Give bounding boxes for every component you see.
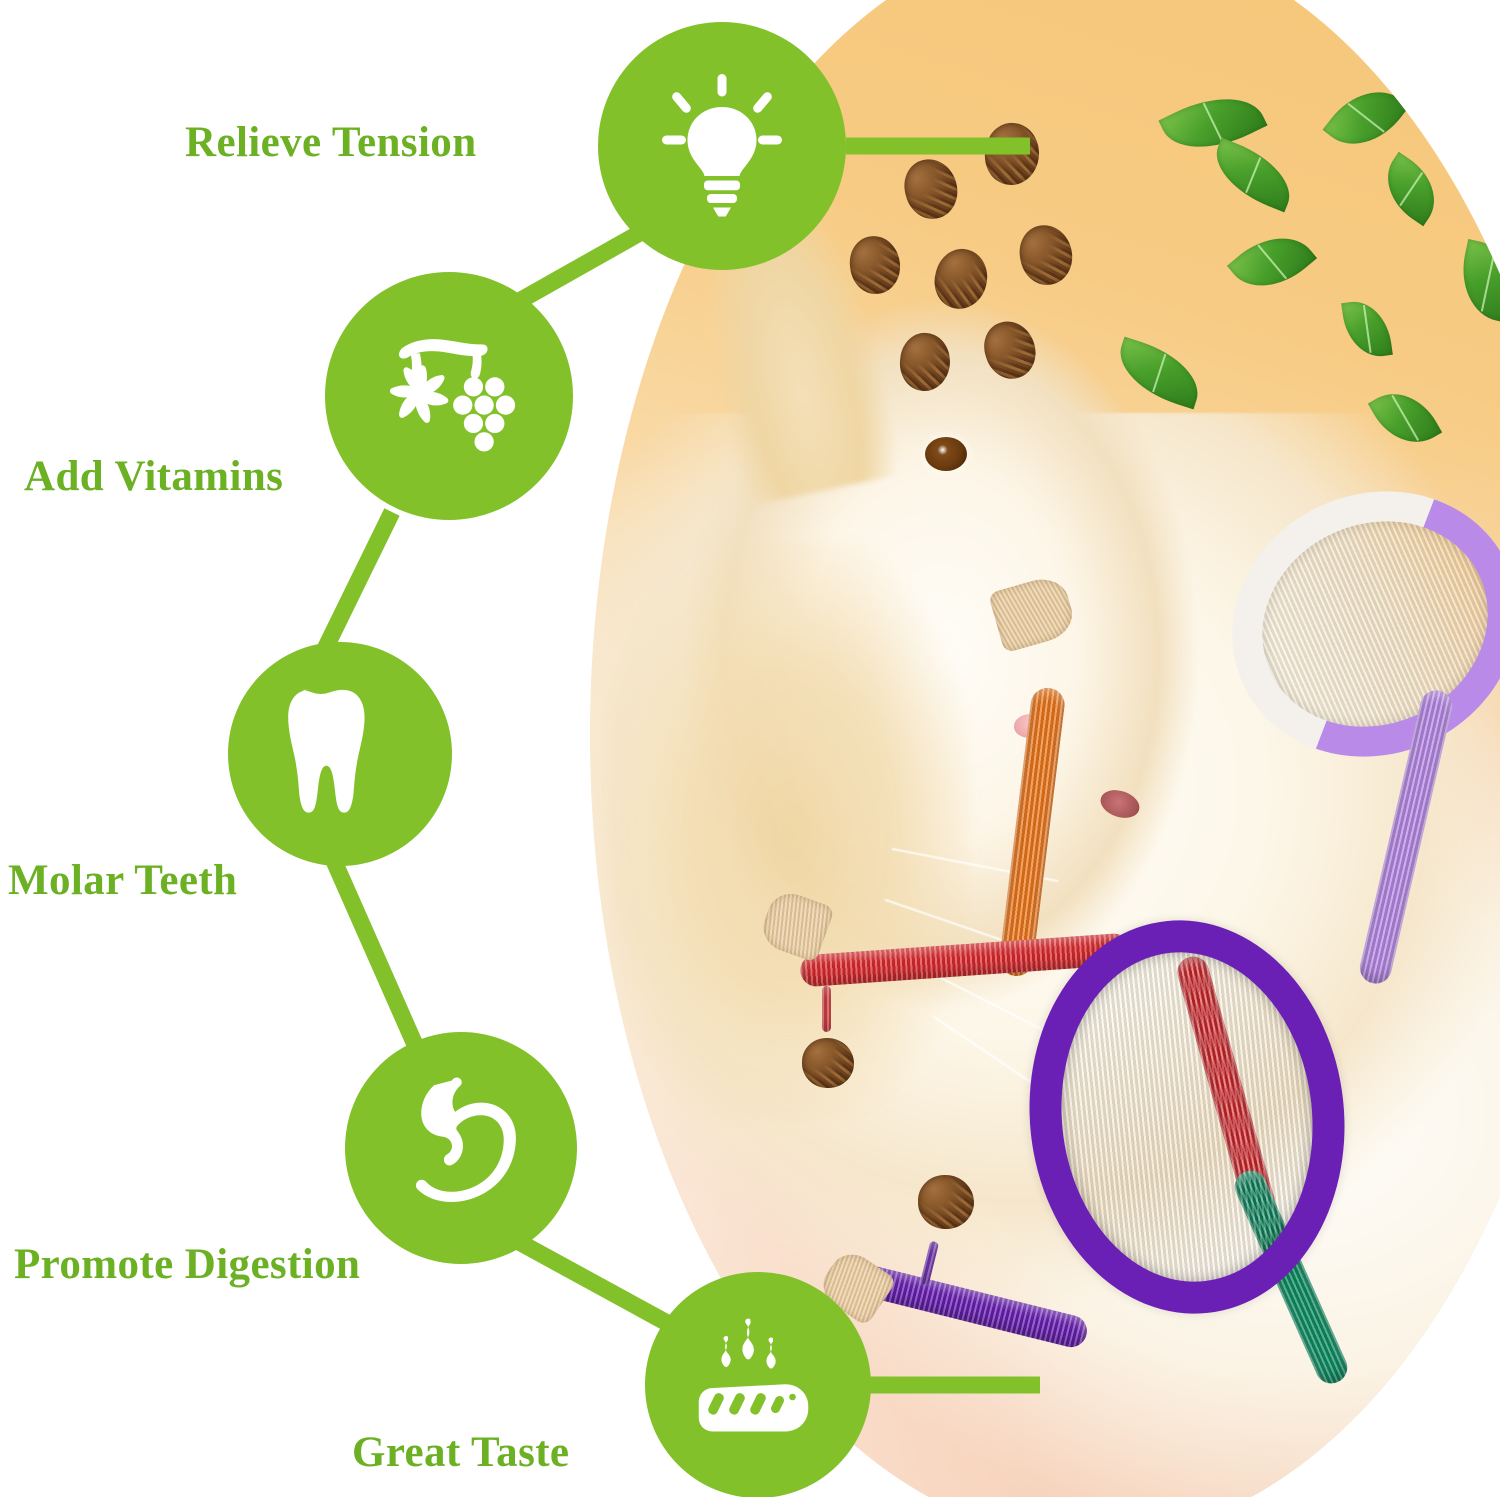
benefit-circle-molar-teeth[interactable] [228,642,452,866]
benefit-label-promote-digestion: Promote Digestion [14,1240,360,1289]
cat-cheek [610,542,970,1122]
red-yarn-drop-string [822,986,831,1032]
benefit-label-add-vitamins: Add Vitamins [24,452,283,501]
benefit-label-molar-teeth: Molar Teeth [8,856,237,905]
benefit-circle-great-taste[interactable] [645,1272,871,1497]
steaming-food-icon [683,1310,833,1460]
infographic-canvas: Relieve Tension Add Vitamins Molar T [0,0,1500,1497]
lightbulb-icon [647,71,797,221]
tooth-icon [271,679,409,829]
stomach-icon [386,1073,536,1223]
benefit-circle-relieve-tension[interactable] [598,22,846,270]
benefit-label-relieve-tension: Relieve Tension [185,118,477,167]
benefit-circle-promote-digestion[interactable] [345,1032,577,1264]
benefit-circle-add-vitamins[interactable] [325,272,573,520]
catnip-ball-on-red-string [802,1038,854,1088]
cat-eye [925,437,967,471]
connector-teeth-to-digestion [330,852,420,1056]
benefit-label-great-taste: Great Taste [352,1428,569,1477]
grapes-leaf-icon [365,312,533,480]
catnip-ball-on-purple-string [918,1175,974,1229]
